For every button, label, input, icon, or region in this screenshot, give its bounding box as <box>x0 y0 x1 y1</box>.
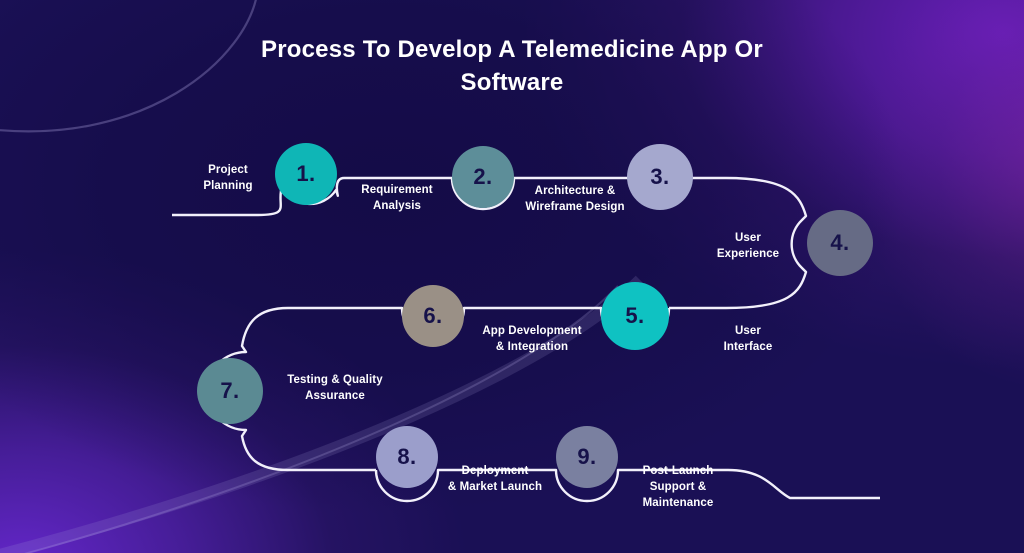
step-label-2: Requirement Analysis <box>342 182 452 214</box>
step-label-5-line1: User <box>698 323 798 339</box>
step-label-5-line2: Interface <box>698 339 798 355</box>
step-label-4-line2: Experience <box>698 246 798 262</box>
step-label-6-line1: App Development <box>468 323 596 339</box>
step-label-1-line2: Planning <box>182 178 274 194</box>
step-number-8: 8. <box>397 444 416 470</box>
step-number-6: 6. <box>423 303 442 329</box>
step-label-8: Deployment & Market Launch <box>430 463 560 495</box>
step-label-1-line1: Project <box>182 162 274 178</box>
step-node-5[interactable]: 5. <box>601 282 669 350</box>
step-label-3-line1: Architecture & <box>513 183 637 199</box>
step-node-6[interactable]: 6. <box>402 285 464 347</box>
step-label-9: Post-Launch Support & Maintenance <box>620 463 736 511</box>
step-label-9-line3: Maintenance <box>620 495 736 511</box>
step-node-9[interactable]: 9. <box>556 426 618 488</box>
step-node-8[interactable]: 8. <box>376 426 438 488</box>
step-number-9: 9. <box>577 444 596 470</box>
step-label-7: Testing & Quality Assurance <box>272 372 398 404</box>
step-node-1[interactable]: 1. <box>275 143 337 205</box>
step-label-6: App Development & Integration <box>468 323 596 355</box>
step-number-2: 2. <box>473 164 492 190</box>
step-label-4: User Experience <box>698 230 798 262</box>
step-node-7[interactable]: 7. <box>197 358 263 424</box>
step-label-4-line1: User <box>698 230 798 246</box>
step-label-2-line1: Requirement <box>342 182 452 198</box>
step-node-2[interactable]: 2. <box>452 146 514 208</box>
infographic-canvas: Process To Develop A Telemedicine App Or… <box>0 0 1024 553</box>
step-label-9-line2: Support & <box>620 479 736 495</box>
step-label-3-line2: Wireframe Design <box>513 199 637 215</box>
step-number-1: 1. <box>296 161 315 187</box>
step-label-3: Architecture & Wireframe Design <box>513 183 637 215</box>
step-label-1: Project Planning <box>182 162 274 194</box>
step-label-8-line1: Deployment <box>430 463 560 479</box>
step-number-4: 4. <box>830 230 849 256</box>
step-label-7-line1: Testing & Quality <box>272 372 398 388</box>
step-label-7-line2: Assurance <box>272 388 398 404</box>
step-label-8-line2: & Market Launch <box>430 479 560 495</box>
step-label-2-line2: Analysis <box>342 198 452 214</box>
step-label-6-line2: & Integration <box>468 339 596 355</box>
step-label-5: User Interface <box>698 323 798 355</box>
step-label-9-line1: Post-Launch <box>620 463 736 479</box>
step-number-7: 7. <box>220 378 239 404</box>
step-number-5: 5. <box>625 303 644 329</box>
step-node-4[interactable]: 4. <box>807 210 873 276</box>
step-number-3: 3. <box>650 164 669 190</box>
